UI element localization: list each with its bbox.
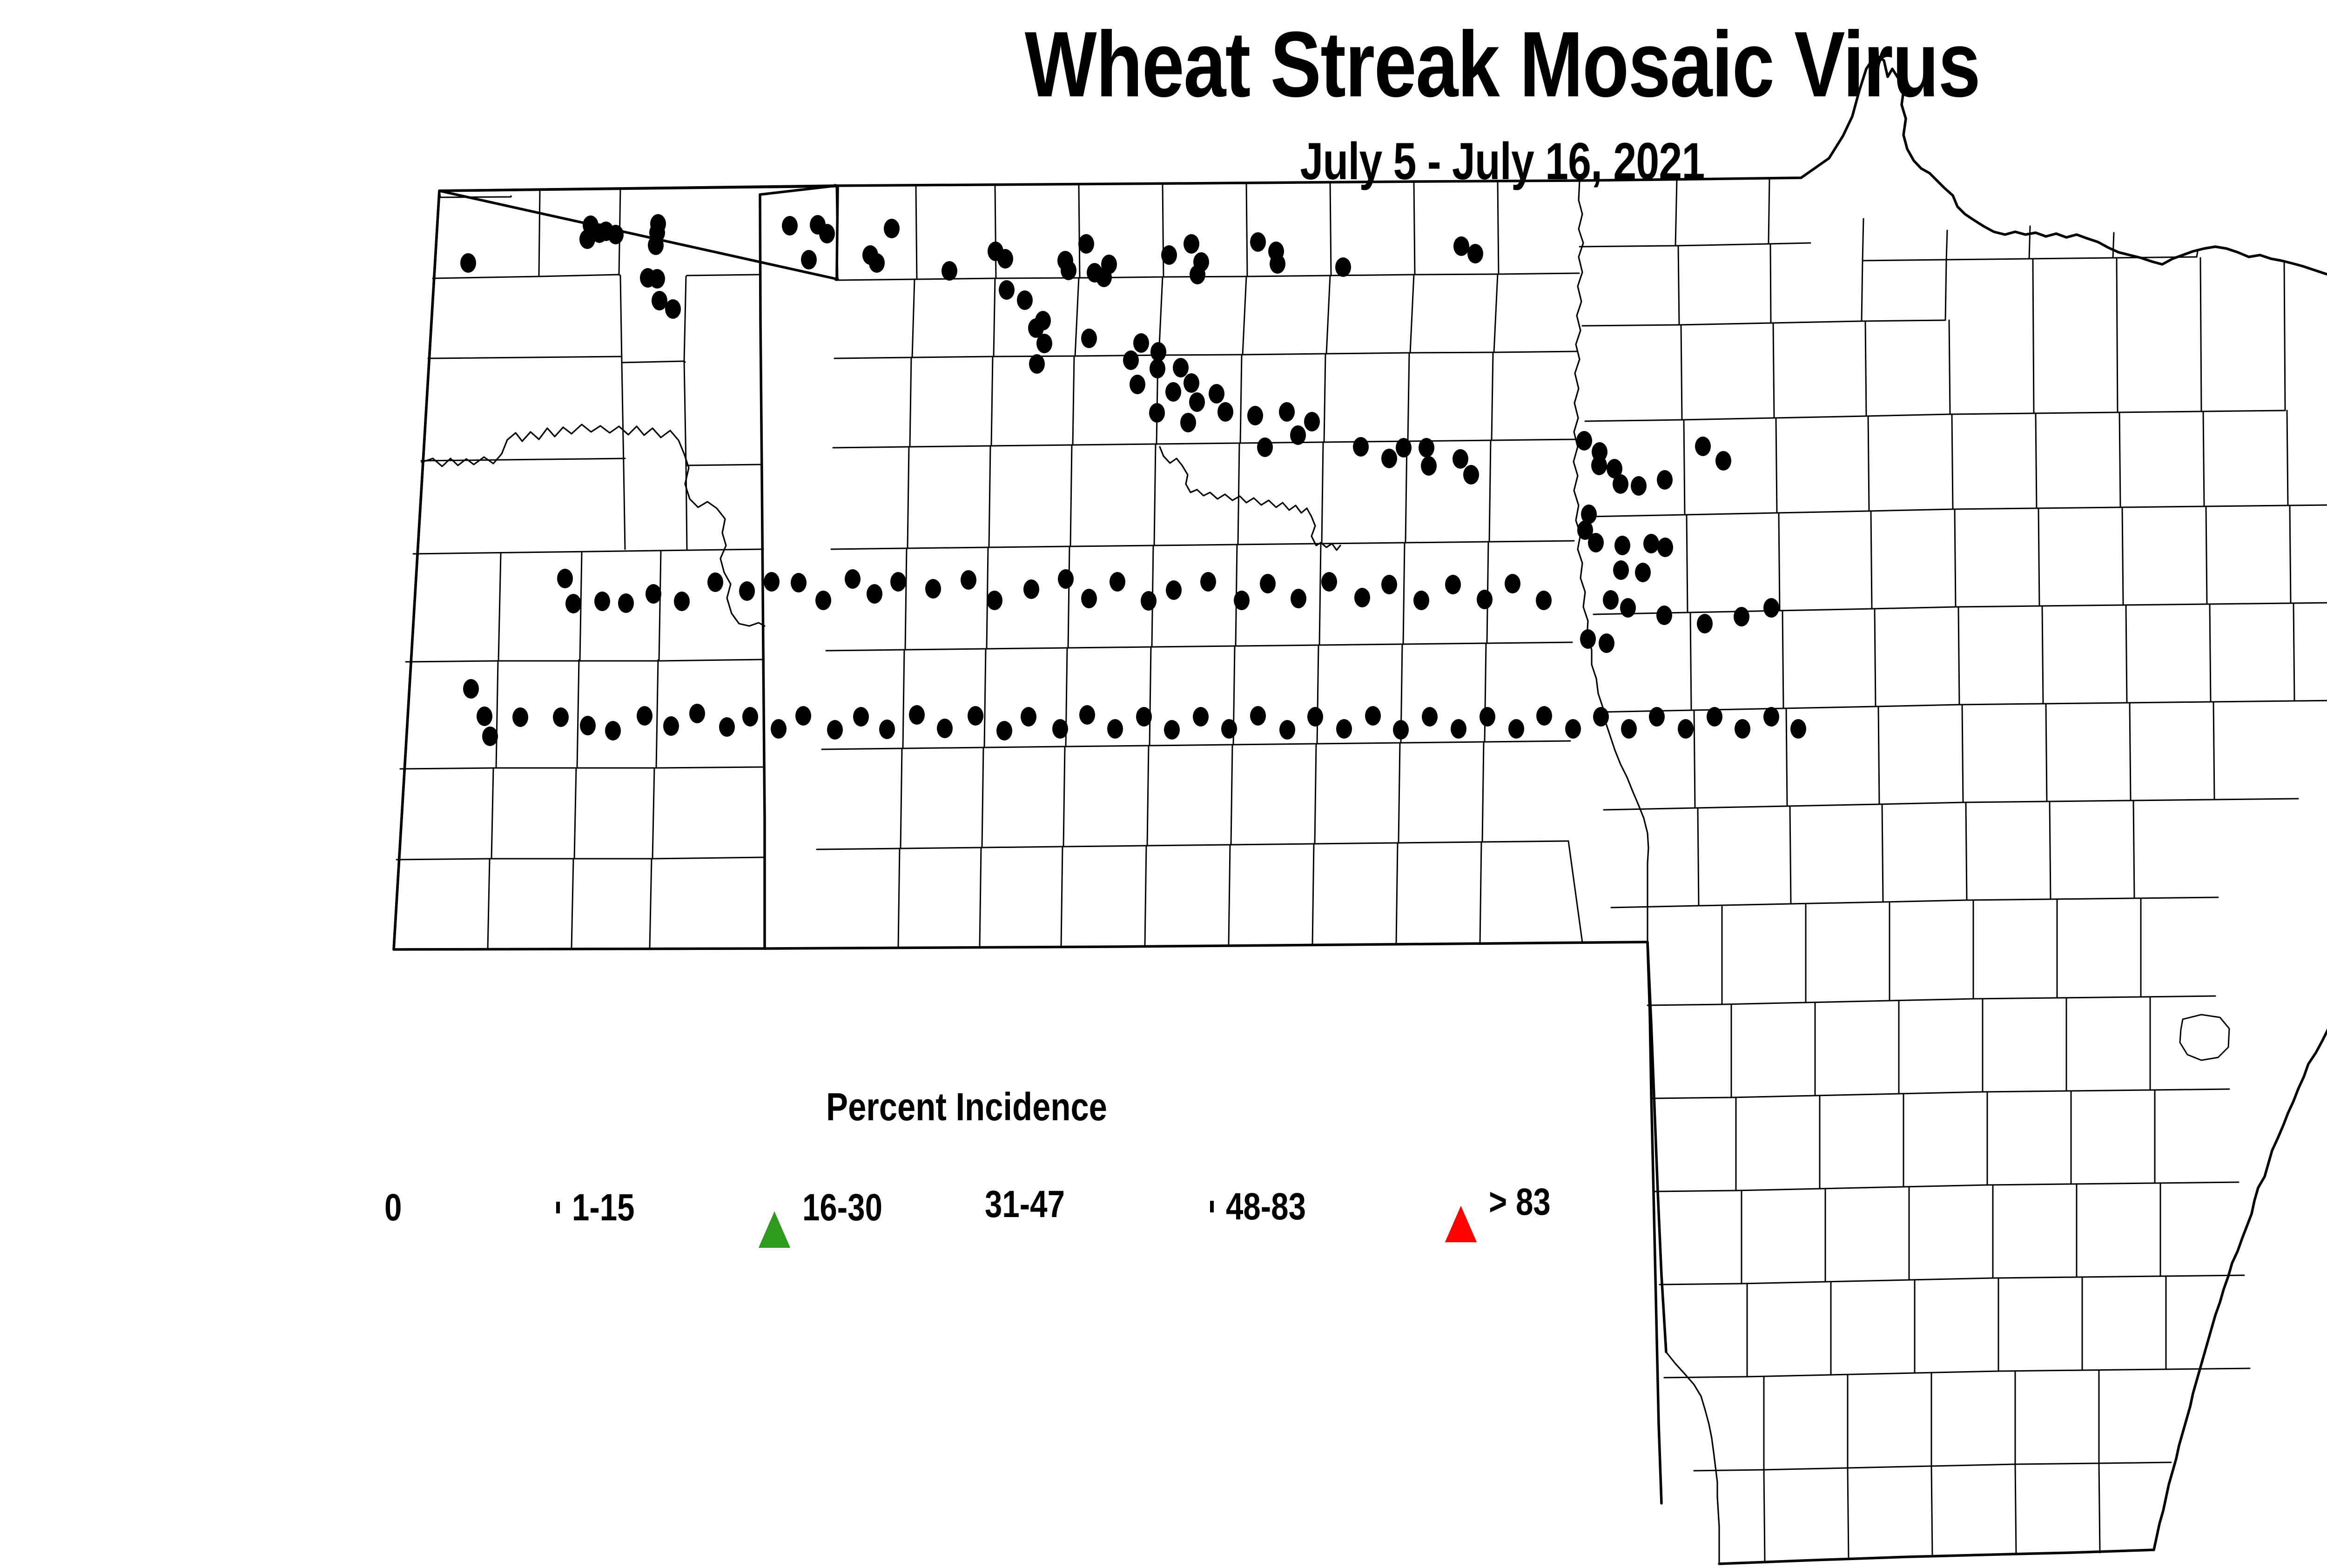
incidence-point[interactable]: [1480, 707, 1495, 727]
incidence-point[interactable]: [1036, 334, 1052, 353]
incidence-point[interactable]: [961, 570, 976, 590]
incidence-point[interactable]: [1467, 244, 1483, 263]
incidence-point[interactable]: [1307, 707, 1323, 727]
incidence-point[interactable]: [1150, 342, 1166, 362]
incidence-point[interactable]: [869, 253, 885, 273]
incidence-point[interactable]: [1421, 456, 1437, 476]
incidence-point[interactable]: [1354, 588, 1370, 607]
incidence-point[interactable]: [1419, 438, 1434, 458]
incidence-point[interactable]: [1217, 402, 1233, 422]
incidence-point[interactable]: [1508, 719, 1524, 739]
incidence-point[interactable]: [1021, 707, 1036, 727]
incidence-point[interactable]: [565, 594, 581, 613]
incidence-point[interactable]: [512, 707, 528, 727]
incidence-point[interactable]: [1221, 719, 1237, 739]
incidence-point[interactable]: [646, 584, 661, 604]
incidence-point[interactable]: [650, 214, 666, 234]
incidence-point[interactable]: [663, 716, 679, 736]
incidence-point[interactable]: [1657, 470, 1673, 490]
incidence-point[interactable]: [1381, 449, 1397, 468]
incidence-point[interactable]: [1079, 705, 1095, 725]
incidence-point[interactable]: [1052, 719, 1068, 739]
state-montana: [394, 185, 838, 949]
incidence-point[interactable]: [1657, 538, 1673, 557]
incidence-point[interactable]: [782, 216, 798, 236]
incidence-point[interactable]: [1164, 720, 1180, 740]
incidence-point[interactable]: [909, 705, 925, 725]
incidence-point[interactable]: [867, 584, 882, 604]
incidence-point[interactable]: [853, 707, 869, 727]
incidence-point[interactable]: [1593, 707, 1609, 727]
incidence-point[interactable]: [1735, 719, 1750, 739]
incidence-point[interactable]: [1697, 614, 1713, 633]
incidence-point[interactable]: [1613, 560, 1629, 580]
incidence-point[interactable]: [1505, 574, 1520, 593]
incidence-point[interactable]: [1631, 476, 1647, 496]
state-south-dakota: [765, 942, 1661, 1503]
incidence-point[interactable]: [1599, 633, 1614, 653]
incidence-point[interactable]: [594, 592, 610, 611]
incidence-point[interactable]: [1396, 438, 1412, 458]
incidence-point[interactable]: [637, 706, 652, 726]
incidence-point[interactable]: [1614, 536, 1630, 555]
incidence-point[interactable]: [827, 720, 843, 740]
incidence-point[interactable]: [1081, 329, 1097, 348]
incidence-point[interactable]: [1715, 451, 1731, 471]
incidence-point[interactable]: [1290, 425, 1306, 445]
incidence-point[interactable]: [1445, 575, 1461, 594]
incidence-point[interactable]: [1081, 589, 1097, 608]
incidence-point[interactable]: [719, 717, 735, 737]
incidence-point[interactable]: [1200, 572, 1216, 592]
incidence-point[interactable]: [1393, 720, 1409, 740]
incidence-point[interactable]: [1656, 606, 1672, 625]
incidence-point[interactable]: [707, 572, 723, 592]
incidence-point[interactable]: [477, 707, 492, 726]
incidence-point[interactable]: [460, 253, 476, 273]
incidence-point[interactable]: [795, 706, 811, 726]
incidence-point[interactable]: [1250, 706, 1266, 726]
incidence-point[interactable]: [1234, 591, 1250, 610]
incidence-point[interactable]: [764, 572, 780, 592]
incidence-point[interactable]: [1141, 591, 1157, 611]
incidence-point[interactable]: [997, 249, 1013, 269]
incidence-point[interactable]: [1413, 591, 1429, 610]
incidence-point[interactable]: [1184, 234, 1199, 254]
choropleth-map[interactable]: [0, 0, 2327, 1568]
incidence-point[interactable]: [1588, 533, 1604, 552]
incidence-point[interactable]: [557, 569, 573, 588]
incidence-point[interactable]: [1707, 707, 1722, 727]
incidence-point[interactable]: [1763, 598, 1779, 618]
incidence-point[interactable]: [987, 591, 1002, 610]
incidence-point[interactable]: [1058, 569, 1074, 589]
incidence-point[interactable]: [1453, 236, 1469, 256]
incidence-point[interactable]: [605, 721, 621, 740]
state-minnesota: [1580, 55, 2327, 1564]
incidence-point[interactable]: [771, 719, 787, 739]
incidence-point[interactable]: [1678, 719, 1694, 739]
incidence-point[interactable]: [1304, 412, 1320, 431]
incidence-point[interactable]: [1649, 707, 1665, 727]
incidence-point[interactable]: [1247, 406, 1263, 425]
incidence-point[interactable]: [1078, 234, 1094, 254]
incidence-point[interactable]: [592, 223, 607, 243]
incidence-point[interactable]: [1023, 579, 1039, 599]
incidence-point[interactable]: [791, 573, 807, 592]
incidence-point[interactable]: [1790, 719, 1806, 739]
incidence-point[interactable]: [1209, 384, 1224, 404]
incidence-point[interactable]: [665, 299, 681, 319]
incidence-point[interactable]: [999, 280, 1015, 300]
incidence-point[interactable]: [801, 250, 817, 269]
incidence-point[interactable]: [1161, 245, 1177, 265]
incidence-point[interactable]: [1620, 598, 1636, 618]
incidence-point[interactable]: [1017, 290, 1033, 310]
map-svg[interactable]: [0, 0, 2327, 1568]
incidence-point[interactable]: [819, 224, 835, 243]
incidence-point[interactable]: [1335, 257, 1351, 277]
incidence-point[interactable]: [1193, 707, 1209, 727]
incidence-point[interactable]: [815, 591, 831, 610]
incidence-point[interactable]: [463, 679, 479, 699]
incidence-point[interactable]: [1149, 403, 1165, 423]
incidence-point[interactable]: [1184, 373, 1199, 393]
incidence-point[interactable]: [1734, 607, 1749, 626]
incidence-point[interactable]: [1621, 719, 1637, 739]
incidence-point[interactable]: [618, 593, 634, 613]
incidence-point[interactable]: [1150, 359, 1165, 378]
incidence-point[interactable]: [1180, 413, 1196, 432]
incidence-point[interactable]: [1279, 720, 1295, 740]
incidence-point[interactable]: [968, 706, 983, 726]
incidence-point[interactable]: [1130, 375, 1145, 394]
incidence-point[interactable]: [1353, 437, 1369, 457]
incidence-point[interactable]: [739, 581, 755, 601]
incidence-point[interactable]: [1123, 350, 1139, 370]
incidence-point[interactable]: [1189, 392, 1205, 412]
incidence-point[interactable]: [1643, 534, 1659, 553]
incidence-point[interactable]: [1613, 474, 1628, 494]
incidence-point[interactable]: [1336, 719, 1352, 739]
incidence-point[interactable]: [996, 721, 1012, 740]
incidence-point[interactable]: [1107, 719, 1123, 739]
incidence-point[interactable]: [482, 727, 498, 746]
incidence-point[interactable]: [1133, 333, 1149, 353]
incidence-point[interactable]: [1381, 575, 1397, 594]
incidence-point[interactable]: [1576, 431, 1592, 451]
incidence-point[interactable]: [1279, 402, 1295, 422]
incidence-point[interactable]: [1536, 706, 1552, 726]
incidence-point[interactable]: [553, 707, 569, 727]
incidence-point[interactable]: [742, 707, 758, 727]
incidence-point[interactable]: [937, 719, 953, 738]
incidence-point[interactable]: [1565, 719, 1581, 739]
incidence-points[interactable]: [460, 214, 1806, 746]
incidence-point[interactable]: [1463, 465, 1479, 485]
incidence-point[interactable]: [1695, 437, 1711, 456]
incidence-point[interactable]: [1763, 707, 1779, 727]
incidence-point[interactable]: [1270, 254, 1285, 274]
incidence-point[interactable]: [652, 291, 667, 310]
incidence-point[interactable]: [1257, 437, 1273, 457]
incidence-point[interactable]: [1321, 572, 1337, 592]
incidence-point[interactable]: [1580, 629, 1596, 649]
incidence-point[interactable]: [1190, 265, 1205, 284]
incidence-point[interactable]: [1029, 354, 1045, 374]
map-figure: Wheat Streak Mosaic Virus July 5 - July …: [0, 0, 2327, 1568]
incidence-point[interactable]: [689, 704, 705, 723]
incidence-point[interactable]: [925, 579, 941, 599]
incidence-point[interactable]: [1453, 449, 1468, 469]
incidence-point[interactable]: [1536, 591, 1552, 610]
incidence-point[interactable]: [884, 219, 900, 238]
incidence-point[interactable]: [1451, 719, 1466, 739]
incidence-point[interactable]: [1110, 572, 1125, 592]
incidence-point[interactable]: [1291, 589, 1306, 608]
incidence-point[interactable]: [1096, 268, 1112, 287]
incidence-point[interactable]: [890, 572, 906, 592]
incidence-point[interactable]: [649, 269, 665, 289]
incidence-point[interactable]: [1260, 574, 1276, 593]
incidence-point[interactable]: [608, 225, 624, 244]
incidence-point[interactable]: [1603, 590, 1619, 610]
incidence-point[interactable]: [1635, 563, 1651, 582]
incidence-point[interactable]: [1166, 580, 1182, 600]
incidence-point[interactable]: [1365, 706, 1381, 726]
incidence-point[interactable]: [1136, 707, 1152, 727]
incidence-point[interactable]: [942, 261, 957, 281]
incidence-point[interactable]: [648, 236, 664, 255]
incidence-point[interactable]: [879, 720, 895, 739]
incidence-point[interactable]: [845, 569, 861, 589]
incidence-point[interactable]: [580, 716, 596, 735]
incidence-point[interactable]: [1250, 232, 1266, 252]
incidence-point[interactable]: [1165, 382, 1181, 402]
incidence-point[interactable]: [1061, 261, 1076, 280]
incidence-point[interactable]: [1591, 456, 1607, 475]
incidence-point[interactable]: [674, 592, 690, 611]
incidence-point[interactable]: [1477, 590, 1493, 609]
incidence-point[interactable]: [1173, 358, 1189, 377]
state-north-dakota: [765, 181, 1648, 949]
incidence-point[interactable]: [1422, 707, 1438, 727]
